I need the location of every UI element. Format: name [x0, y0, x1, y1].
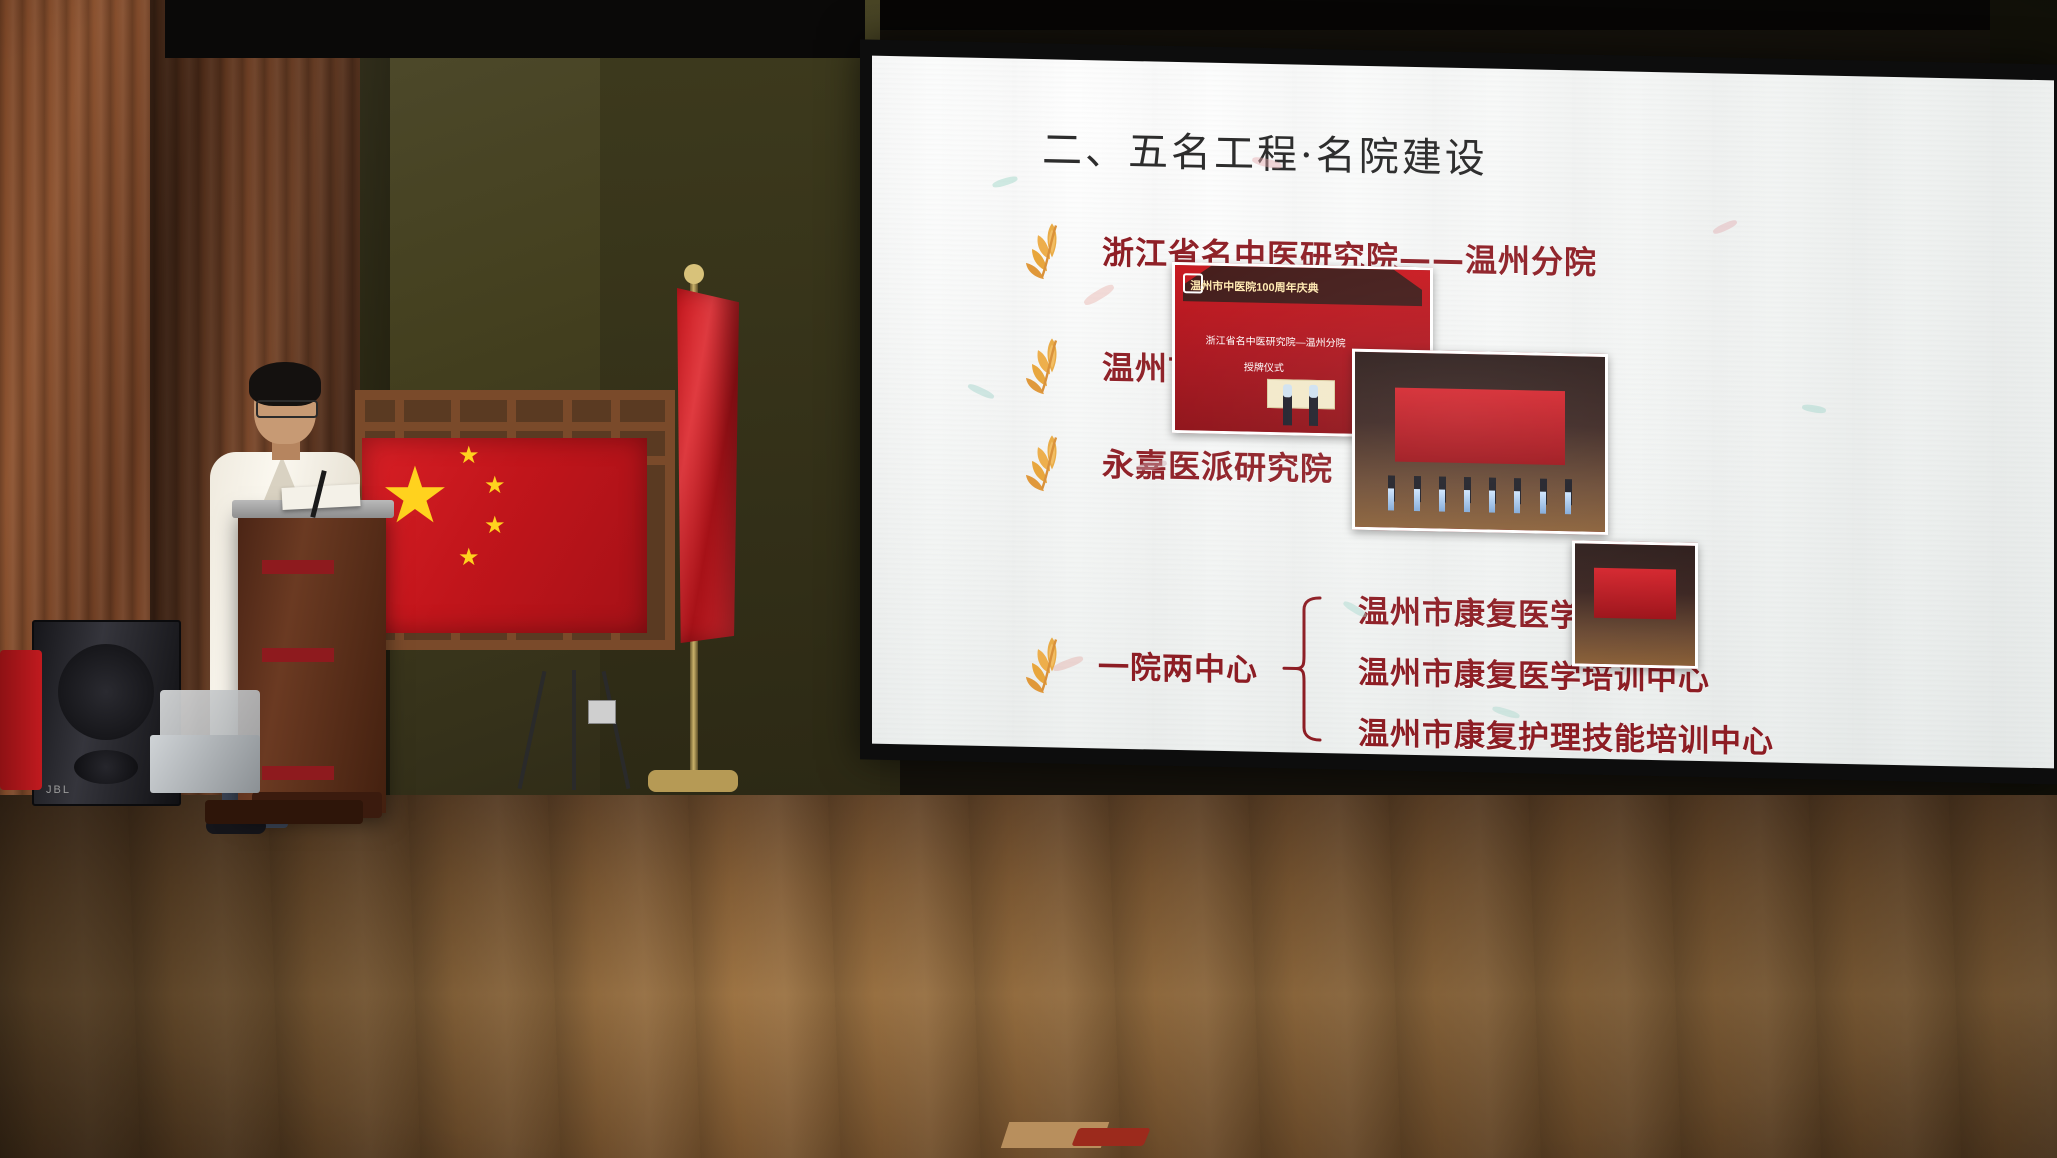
wheat-icon: [1022, 219, 1076, 280]
equipment-cart-lower: [150, 735, 260, 793]
stage-floor: [0, 795, 2057, 1158]
red-equipment-case: [0, 650, 42, 790]
conference-hall-photo: 二、五名工程·名院建设 浙江省名中医研究院——: [0, 0, 2057, 1158]
presentation-slide: 二、五名工程·名院建设 浙江省名中医研究院——: [872, 56, 2054, 769]
group-item-2: 温州市康复医学培训中心: [1358, 647, 1774, 701]
group-items: 温州市康复医学研究院 温州市康复医学培训中心 温州市康复护理技能培训中心: [1358, 586, 1774, 762]
flag-small-star-icon-4: ★: [458, 546, 480, 570]
lectern-accent-1: [262, 560, 334, 574]
speaker-cone: [58, 644, 154, 740]
speaker-brand-label: JBL: [46, 784, 71, 796]
floor-object-red: [1071, 1128, 1150, 1146]
small-floor-box: [588, 700, 616, 724]
lectern-accent-3: [262, 766, 334, 780]
slide-bullet-3-text: 永嘉医派研究院: [1102, 439, 1333, 490]
projection-screen: 二、五名工程·名院建设 浙江省名中医研究院——: [872, 56, 2054, 769]
flag-small-star-icon-2: ★: [484, 474, 506, 498]
photo-banner-line1: 浙江省名中医研究院—温州分院: [1206, 332, 1346, 350]
photo3-led-screen: [1594, 568, 1676, 620]
photo2-people-row: [1380, 450, 1590, 514]
eyeglasses-icon: [256, 400, 318, 418]
group-item-1: 温州市康复医学研究院: [1358, 586, 1774, 640]
flag-pole-base: [648, 770, 738, 792]
flag-small-star-icon-3: ★: [484, 514, 506, 538]
speaker-tweeter: [74, 750, 138, 784]
brace-icon: [1280, 593, 1336, 744]
photo-people: [1277, 376, 1333, 427]
flag-pole-finial: [684, 264, 704, 284]
stage-lineup-photo: [1352, 349, 1608, 535]
slide-title: 二、五名工程·名院建设: [1042, 117, 1488, 184]
third-inset-photo: [1572, 540, 1698, 669]
wheat-icon: [1022, 334, 1076, 395]
flag-small-star-icon-1: ★: [458, 444, 480, 468]
tripod-stand: [520, 660, 630, 790]
lectern-accent-2: [262, 648, 334, 662]
group-item-3: 温州市康复护理技能培训中心: [1358, 708, 1774, 762]
chinese-flag-panel: ★ ★ ★ ★ ★: [362, 438, 647, 633]
photo-banner-title: 温州市中医院100周年庆典: [1190, 277, 1318, 296]
wheat-icon: [1022, 431, 1076, 492]
standing-flag-cloth: [677, 288, 739, 643]
photo-banner-line2: 授牌仪式: [1244, 359, 1284, 375]
slide-bullet-3: 永嘉医派研究院: [1022, 431, 1333, 498]
upper-dark-band: [165, 0, 865, 58]
group-label: 一院两中心: [1098, 641, 1258, 689]
flag-big-star-icon: ★: [380, 456, 450, 534]
lectern-base: [205, 800, 363, 824]
